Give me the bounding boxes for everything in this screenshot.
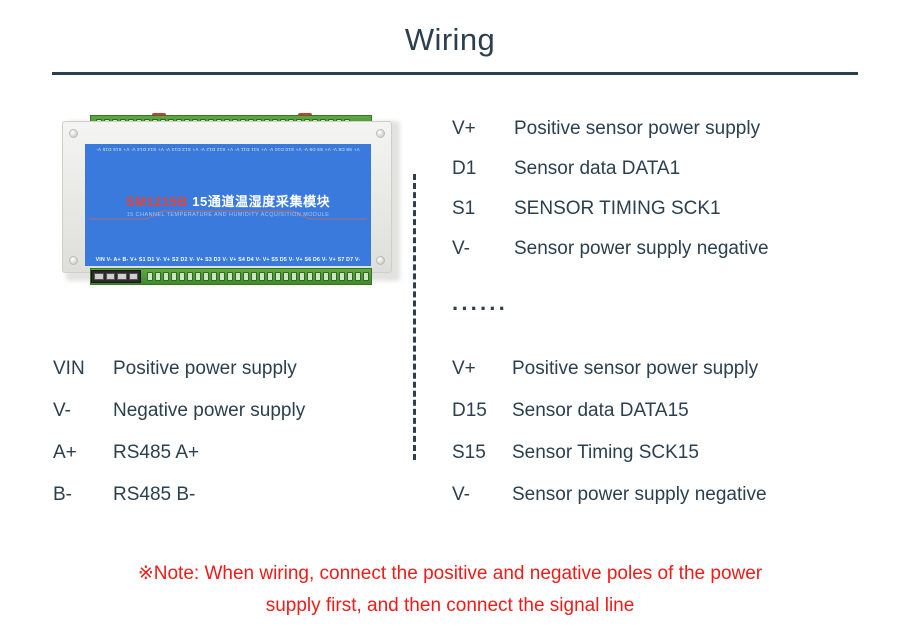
terminal-hole <box>275 272 281 281</box>
power-terminal-pin <box>94 273 104 280</box>
device-model-line: SM1215B 15通道温湿度采集模块 <box>85 191 371 211</box>
terminal-hole <box>235 272 241 281</box>
list-item: V- Sensor power supply negative <box>452 238 769 278</box>
device-photo: V+ S8 D8 V- V+ S9 D9 V- V+ S10 D10 V- V+… <box>62 113 402 285</box>
terminal-description: Negative power supply <box>113 400 305 422</box>
terminal-hole <box>267 272 273 281</box>
terminal-key: D1 <box>452 158 514 180</box>
terminal-description: Sensor Timing SCK15 <box>512 442 699 464</box>
power-terminal-pin <box>106 273 116 280</box>
terminal-hole <box>187 272 193 281</box>
device-housing: V+ S8 D8 V- V+ S9 D9 V- V+ S10 D10 V- V+… <box>62 121 392 273</box>
list-item: V+ Positive sensor power supply <box>452 118 769 158</box>
terminal-hole <box>155 272 161 281</box>
list-item: D1 Sensor data DATA1 <box>452 158 769 198</box>
terminal-key: V+ <box>452 118 514 140</box>
terminal-description: Positive sensor power supply <box>512 358 758 380</box>
mounting-screw-icon <box>69 256 78 265</box>
terminal-hole <box>163 272 169 281</box>
terminal-hole <box>299 272 305 281</box>
sensor-channel-1-list: V+ Positive sensor power supply D1 Senso… <box>452 118 769 278</box>
terminal-key: S15 <box>452 442 512 464</box>
column-divider <box>413 174 416 460</box>
terminal-description: Sensor data DATA1 <box>514 158 680 180</box>
terminal-hole <box>251 272 257 281</box>
terminal-hole <box>363 272 369 281</box>
terminal-hole <box>243 272 249 281</box>
terminal-description: RS485 A+ <box>113 442 199 464</box>
terminal-key: S1 <box>452 198 514 220</box>
list-item: A+ RS485 A+ <box>53 442 305 484</box>
wiring-note: ※Note: When wiring, connect the positive… <box>70 558 830 622</box>
terminal-hole <box>291 272 297 281</box>
device-model-en: 15 CHANNEL TEMPERATURE AND HUMIDITY ACQU… <box>85 212 371 218</box>
terminal-hole <box>339 272 345 281</box>
list-item: VIN Positive power supply <box>53 358 305 400</box>
list-item: D15 Sensor data DATA15 <box>452 400 767 442</box>
terminal-key: A+ <box>53 442 113 464</box>
terminal-hole <box>259 272 265 281</box>
terminal-description: SENSOR TIMING SCK1 <box>514 198 721 220</box>
continuation-ellipsis: ······ <box>452 296 508 322</box>
terminal-description: Sensor power supply negative <box>514 238 769 260</box>
mounting-screw-icon <box>376 129 385 138</box>
power-terminal-pin <box>129 273 139 280</box>
bottom-terminal-holes <box>147 272 369 281</box>
terminal-hole <box>323 272 329 281</box>
list-item: B- RS485 B- <box>53 484 305 526</box>
terminal-description: Positive sensor power supply <box>514 118 760 140</box>
list-item: V- Negative power supply <box>53 400 305 442</box>
terminal-hole <box>179 272 185 281</box>
device-top-terminal-labels: V+ S8 D8 V- V+ S9 D9 V- V+ S10 D10 V- V+… <box>85 147 371 152</box>
mounting-screw-icon <box>69 129 78 138</box>
terminal-hole <box>315 272 321 281</box>
terminal-hole <box>283 272 289 281</box>
terminal-description: RS485 B- <box>113 484 195 506</box>
device-sku: SM1215B <box>126 194 188 209</box>
list-item: S1 SENSOR TIMING SCK1 <box>452 198 769 238</box>
terminal-hole <box>219 272 225 281</box>
terminal-key: D15 <box>452 400 512 422</box>
terminal-key: V- <box>452 238 514 260</box>
device-model-cn: 15通道温湿度采集模块 <box>192 194 330 209</box>
terminal-hole <box>211 272 217 281</box>
list-item: V- Sensor power supply negative <box>452 484 767 526</box>
terminal-description: Sensor power supply negative <box>512 484 767 506</box>
sensor-channel-15-list: V+ Positive sensor power supply D15 Sens… <box>452 358 767 526</box>
terminal-key: V- <box>53 400 113 422</box>
terminal-hole <box>355 272 361 281</box>
terminal-hole <box>171 272 177 281</box>
terminal-key: VIN <box>53 358 113 380</box>
terminal-hole <box>227 272 233 281</box>
wiring-note-line-2: supply first, and then connect the signa… <box>70 590 830 622</box>
wiring-note-line-1: ※Note: When wiring, connect the positive… <box>70 558 830 590</box>
terminal-key: V+ <box>452 358 512 380</box>
terminal-hole <box>147 272 153 281</box>
terminal-hole <box>347 272 353 281</box>
terminal-description: Positive power supply <box>113 358 297 380</box>
title-divider <box>52 72 858 75</box>
terminal-key: B- <box>53 484 113 506</box>
terminal-hole <box>195 272 201 281</box>
device-faceplate: V+ S8 D8 V- V+ S9 D9 V- V+ S10 D10 V- V+… <box>85 144 371 266</box>
terminal-hole <box>331 272 337 281</box>
terminal-hole <box>203 272 209 281</box>
power-and-rs485-list: VIN Positive power supply V- Negative po… <box>53 358 305 526</box>
terminal-hole <box>307 272 313 281</box>
page-title: Wiring <box>0 22 900 58</box>
list-item: S15 Sensor Timing SCK15 <box>452 442 767 484</box>
device-bottom-terminal-labels: VIN V- A+ B- V+ S1 D1 V- V+ S2 D2 V- V+ … <box>85 257 371 263</box>
terminal-description: Sensor data DATA15 <box>512 400 689 422</box>
terminal-key: V- <box>452 484 512 506</box>
power-terminal-block <box>91 270 141 283</box>
power-terminal-pin <box>117 273 127 280</box>
mounting-screw-icon <box>376 256 385 265</box>
list-item: V+ Positive sensor power supply <box>452 358 767 400</box>
